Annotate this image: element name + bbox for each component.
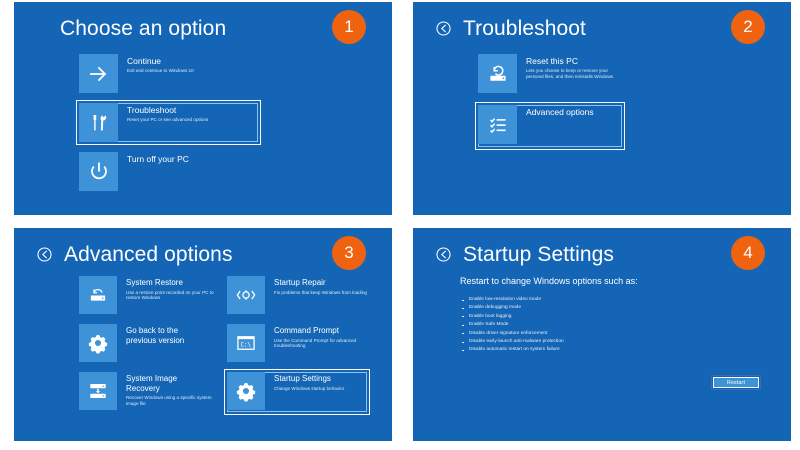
option-advanced-options[interactable]: Advanced options bbox=[475, 102, 625, 150]
list-item: Enable boot logging bbox=[460, 313, 791, 321]
page-title: Advanced options bbox=[64, 244, 233, 265]
option-title: Continue bbox=[127, 56, 194, 66]
step-badge-4: 4 bbox=[731, 236, 765, 270]
page-title: Startup Settings bbox=[463, 244, 614, 265]
list-item: Enable debugging mode bbox=[460, 304, 791, 312]
recovery-screens-grid: 1 Choose an option Continue Exit and con… bbox=[0, 0, 800, 450]
option-title: System Restore bbox=[126, 278, 219, 288]
option-system-image-recovery[interactable]: System Image Recovery Recover Windows us… bbox=[76, 369, 222, 415]
step-badge-1: 1 bbox=[332, 10, 366, 44]
option-text: Startup Settings Change Windows startup … bbox=[265, 372, 344, 391]
option-turn-off-your-pc[interactable]: Turn off your PC bbox=[76, 149, 261, 194]
reset-pc-icon bbox=[478, 54, 517, 93]
restart-button[interactable]: Restart bbox=[713, 377, 759, 388]
option-desc: Use a restore point recorded on your PC … bbox=[126, 290, 219, 301]
option-desc: Use the Command Prompt for advanced trou… bbox=[274, 338, 367, 349]
list-item: Disable driver signature enforcement bbox=[460, 330, 791, 338]
svg-text:C:\: C:\ bbox=[241, 342, 252, 348]
gear-icon bbox=[79, 324, 117, 362]
system-restore-icon bbox=[79, 276, 117, 314]
tools-icon bbox=[79, 103, 118, 142]
option-continue[interactable]: Continue Exit and continue to Windows 10 bbox=[76, 51, 261, 96]
option-title: Startup Repair bbox=[274, 278, 367, 288]
list-item: Enable Safe Mode bbox=[460, 321, 791, 329]
back-arrow-icon[interactable] bbox=[435, 246, 452, 263]
option-command-prompt[interactable]: C:\ Command Prompt Use the Command Promp… bbox=[224, 321, 370, 367]
panel-choose-an-option: 1 Choose an option Continue Exit and con… bbox=[14, 2, 392, 215]
option-title: Command Prompt bbox=[274, 326, 367, 336]
panel-troubleshoot: 2 Troubleshoot bbox=[413, 2, 791, 215]
option-text: Turn off your PC bbox=[118, 152, 189, 166]
option-title: System Image Recovery bbox=[126, 374, 206, 393]
option-reset-this-pc[interactable]: Reset this PC Lets you choose to keep or… bbox=[475, 51, 625, 99]
option-grid-3: System Restore Use a restore point recor… bbox=[76, 273, 376, 417]
page-title: Choose an option bbox=[60, 18, 226, 39]
option-troubleshoot[interactable]: Troubleshoot Reset your PC or see advanc… bbox=[76, 100, 261, 145]
option-system-restore[interactable]: System Restore Use a restore point recor… bbox=[76, 273, 222, 319]
list-item: Disable automatic restart on system fail… bbox=[460, 346, 791, 354]
back-arrow-icon[interactable] bbox=[36, 246, 53, 263]
option-title: Turn off your PC bbox=[127, 154, 189, 164]
option-desc: Exit and continue to Windows 10 bbox=[127, 68, 194, 74]
option-text: Startup Repair Fix problems that keep Wi… bbox=[265, 276, 367, 295]
option-desc: Recover Windows using a specific system … bbox=[126, 395, 219, 406]
command-prompt-icon: C:\ bbox=[227, 324, 265, 362]
startup-options-list: Enable low-resolution video mode Enable … bbox=[460, 296, 791, 355]
option-desc: Lets you choose to keep or remove your p… bbox=[526, 68, 622, 79]
option-desc: Reset your PC or see advanced options bbox=[127, 117, 208, 123]
option-title: Troubleshoot bbox=[127, 105, 208, 115]
startup-repair-icon bbox=[227, 276, 265, 314]
option-startup-repair[interactable]: Startup Repair Fix problems that keep Wi… bbox=[224, 273, 370, 319]
option-title: Advanced options bbox=[526, 107, 594, 117]
checklist-icon bbox=[478, 105, 517, 144]
option-title: Startup Settings bbox=[274, 374, 344, 384]
option-list-1: Continue Exit and continue to Windows 10… bbox=[76, 51, 392, 194]
option-list-2: Reset this PC Lets you choose to keep or… bbox=[475, 51, 791, 150]
option-startup-settings[interactable]: Startup Settings Change Windows startup … bbox=[224, 369, 370, 415]
option-text: Reset this PC Lets you choose to keep or… bbox=[517, 54, 622, 79]
page-title: Troubleshoot bbox=[463, 18, 586, 39]
option-text: Troubleshoot Reset your PC or see advanc… bbox=[118, 103, 208, 123]
startup-settings-body: Restart to change Windows options such a… bbox=[460, 275, 791, 355]
option-text: Command Prompt Use the Command Prompt fo… bbox=[265, 324, 367, 349]
panel-advanced-options: 3 Advanced options bbox=[14, 228, 392, 441]
startup-settings-lead: Restart to change Windows options such a… bbox=[460, 275, 791, 287]
system-image-recovery-icon bbox=[79, 372, 117, 410]
list-item: Enable low-resolution video mode bbox=[460, 296, 791, 304]
step-badge-2: 2 bbox=[731, 10, 765, 44]
option-title: Reset this PC bbox=[526, 56, 622, 66]
option-desc: Fix problems that keep Windows from load… bbox=[274, 290, 367, 296]
panel-startup-settings: 4 Startup Settings Restart to change Win… bbox=[413, 228, 791, 441]
option-text: Go back to the previous version bbox=[117, 324, 210, 347]
option-desc: Change Windows startup behavior bbox=[274, 386, 344, 392]
option-title: Go back to the previous version bbox=[126, 326, 210, 345]
list-item: Disable early-launch anti-malware protec… bbox=[460, 338, 791, 346]
option-text: Advanced options bbox=[517, 105, 594, 119]
option-text: System Restore Use a restore point recor… bbox=[117, 276, 219, 301]
step-badge-3: 3 bbox=[332, 236, 366, 270]
option-go-back-previous-version[interactable]: Go back to the previous version bbox=[76, 321, 222, 367]
back-arrow-icon[interactable] bbox=[435, 20, 452, 37]
option-text: System Image Recovery Recover Windows us… bbox=[117, 372, 219, 406]
gear-icon bbox=[227, 372, 265, 410]
restart-button-wrap: Restart bbox=[713, 371, 759, 389]
option-text: Continue Exit and continue to Windows 10 bbox=[118, 54, 194, 74]
power-icon bbox=[79, 152, 118, 191]
arrow-right-icon bbox=[79, 54, 118, 93]
